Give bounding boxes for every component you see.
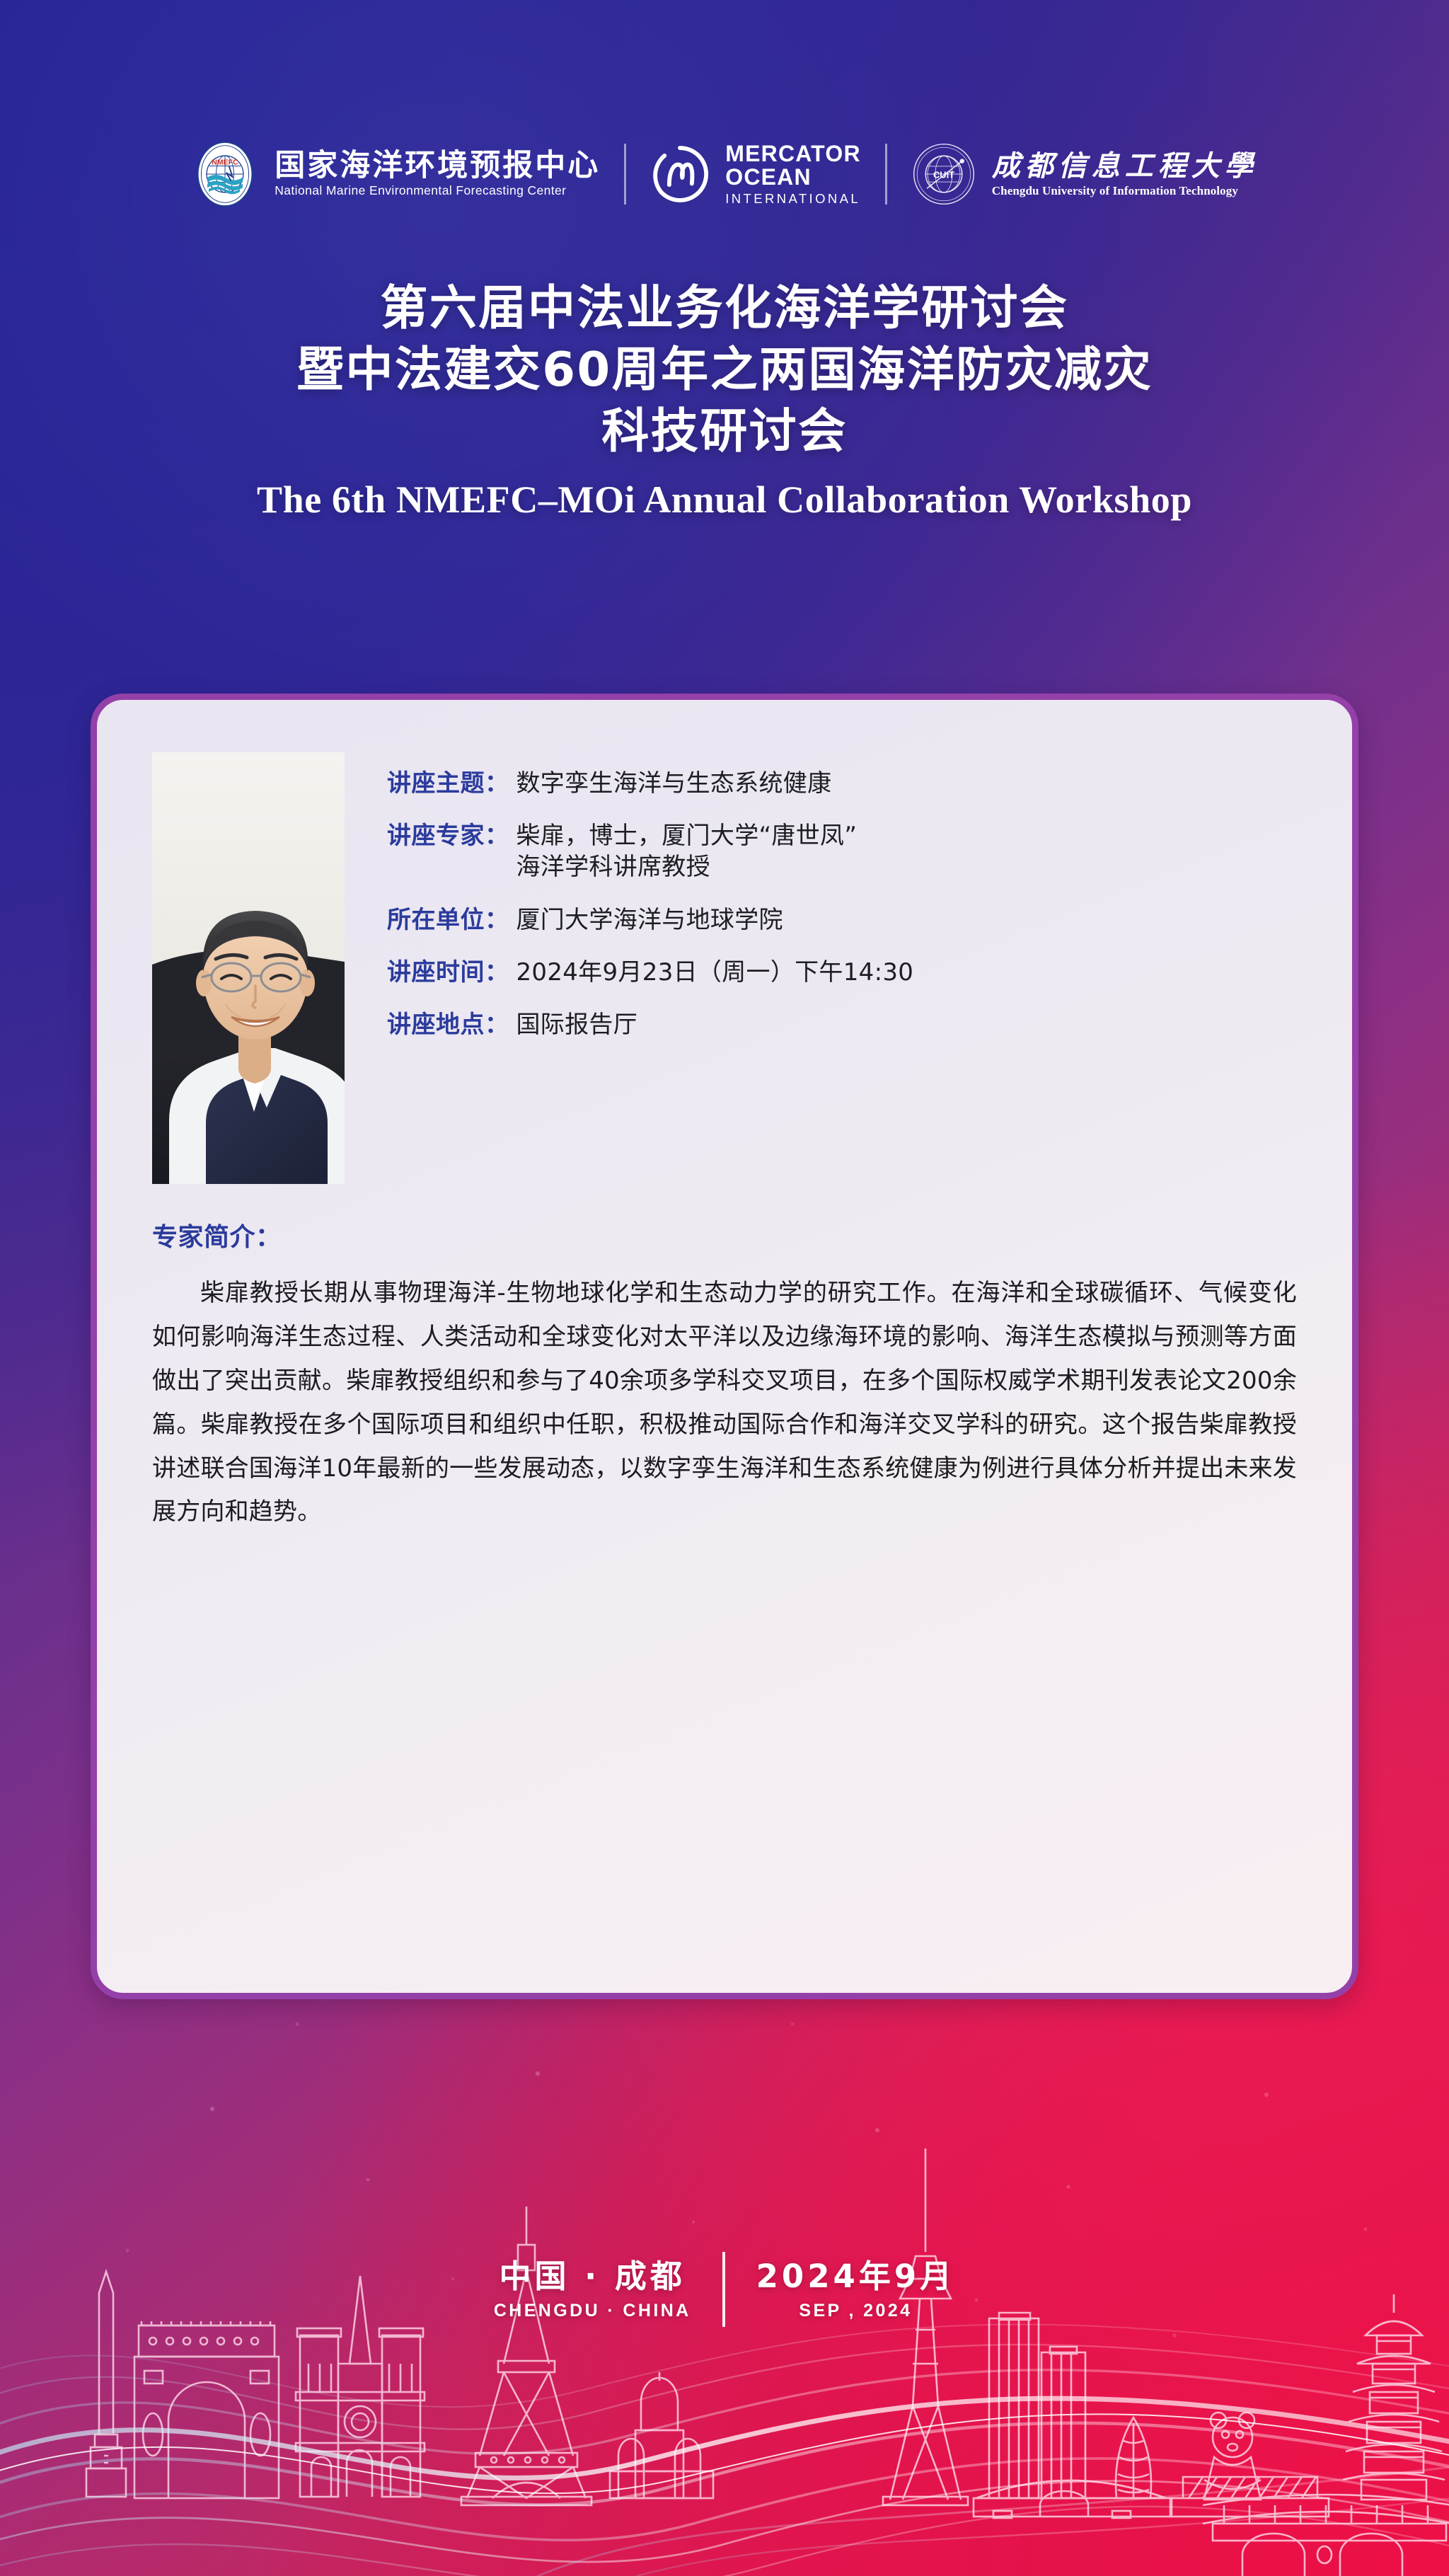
footer-date-en: SEP , 2024: [756, 2301, 956, 2321]
info-row-datetime: 讲座时间： 2024年9月23日（周一）下午14:30: [387, 957, 1297, 988]
mercator-m-circle-icon: [650, 144, 710, 204]
title-cn-line-2: 暨中法建交60周年之两国海洋防灾减灾: [0, 339, 1449, 401]
lecture-info-card: 讲座主题： 数字孪生海洋与生态系统健康 讲座专家： 柴扉，博士，厦门大学“唐世凤…: [91, 694, 1358, 1999]
info-value-datetime-line1: 2024年9月23日（周一）下午14:30: [516, 958, 914, 987]
poster-titles: 第六届中法业务化海洋学研讨会 暨中法建交60周年之两国海洋防灾减灾 科技研讨会 …: [0, 277, 1449, 522]
mercator-line1: MERCATOR: [725, 142, 861, 166]
logo-cuit: CUIT 成都信息工程大學 Chengdu University of Info…: [887, 142, 1282, 207]
footer-date-cn: 2024年9月: [756, 2258, 956, 2296]
info-row-topic: 讲座主题： 数字孪生海洋与生态系统健康: [387, 768, 1297, 799]
title-english: The 6th NMEFC–MOi Annual Collaboration W…: [0, 478, 1449, 522]
footer-location-date: 中国 · 成都 CHENGDU · CHINA 2024年9月 SEP , 20…: [0, 2252, 1449, 2327]
footer-location-en: CHENGDU · CHINA: [494, 2301, 691, 2321]
svg-text:CUIT: CUIT: [933, 170, 954, 180]
info-label-topic: 讲座主题：: [387, 768, 509, 799]
info-value-speaker: 柴扉，博士，厦门大学“唐世凤” 海洋学科讲席教授: [516, 820, 858, 882]
lecture-info-list: 讲座主题： 数字孪生海洋与生态系统健康 讲座专家： 柴扉，博士，厦门大学“唐世凤…: [387, 752, 1297, 1040]
footer-date: 2024年9月 SEP , 2024: [756, 2258, 956, 2322]
footer-location-cn: 中国 · 成都: [494, 2258, 691, 2296]
logo-nmefc: NMEFC 国家海洋环境预报中心 National Marine Environ…: [167, 140, 624, 208]
footer-location: 中国 · 成都 CHENGDU · CHINA: [494, 2258, 691, 2322]
info-value-speaker-line2: 海洋学科讲席教授: [516, 851, 858, 882]
svg-text:NMEFC: NMEFC: [212, 159, 238, 167]
cuit-name-cn: 成都信息工程大學: [992, 152, 1258, 180]
mercator-line2: OCEAN: [725, 166, 861, 189]
info-value-venue: 国际报告厅: [516, 1009, 638, 1040]
nmefc-name-en: National Marine Environmental Forecastin…: [275, 185, 600, 197]
bio-heading: 专家简介：: [152, 1217, 1297, 1253]
info-value-speaker-line1: 柴扉，博士，厦门大学“唐世凤”: [516, 822, 858, 850]
info-value-topic-line1: 数字孪生海洋与生态系统健康: [516, 769, 832, 798]
title-chinese: 第六届中法业务化海洋学研讨会 暨中法建交60周年之两国海洋防灾减灾 科技研讨会: [0, 277, 1449, 462]
info-label-affiliation: 所在单位：: [387, 904, 509, 936]
cuit-globe-seal-icon: CUIT: [911, 142, 976, 207]
info-row-speaker: 讲座专家： 柴扉，博士，厦门大学“唐世凤” 海洋学科讲席教授: [387, 820, 1297, 882]
title-cn-line-3: 科技研讨会: [0, 401, 1449, 462]
card-top-section: 讲座主题： 数字孪生海洋与生态系统健康 讲座专家： 柴扉，博士，厦门大学“唐世凤…: [152, 752, 1297, 1184]
bio-paragraph: 柴扉教授长期从事物理海洋-生物地球化学和生态动力学的研究工作。在海洋和全球碳循环…: [152, 1272, 1297, 1534]
cuit-name-en: Chengdu University of Information Techno…: [992, 185, 1258, 197]
info-label-venue: 讲座地点：: [387, 1009, 509, 1040]
title-cn-line-1: 第六届中法业务化海洋学研讨会: [0, 277, 1449, 339]
info-value-affiliation: 厦门大学海洋与地球学院: [516, 904, 783, 936]
info-value-datetime: 2024年9月23日（周一）下午14:30: [516, 957, 914, 988]
nmefc-globe-wave-seal-icon: NMEFC: [191, 140, 259, 208]
info-row-venue: 讲座地点： 国际报告厅: [387, 1009, 1297, 1040]
footer-divider: [722, 2252, 725, 2327]
info-row-affiliation: 所在单位： 厦门大学海洋与地球学院: [387, 904, 1297, 936]
speaker-biography: 专家简介： 柴扉教授长期从事物理海洋-生物地球化学和生态动力学的研究工作。在海洋…: [152, 1217, 1297, 1534]
info-label-speaker: 讲座专家：: [387, 820, 509, 851]
mercator-line3: INTERNATIONAL: [725, 192, 861, 206]
sponsor-logo-bar: NMEFC 国家海洋环境预报中心 National Marine Environ…: [0, 125, 1449, 224]
nmefc-name-cn: 国家海洋环境预报中心: [275, 151, 600, 181]
info-value-affiliation-line1: 厦门大学海洋与地球学院: [516, 906, 783, 934]
info-value-topic: 数字孪生海洋与生态系统健康: [516, 768, 832, 799]
info-value-venue-line1: 国际报告厅: [516, 1011, 638, 1039]
speaker-portrait-photo: [152, 752, 345, 1184]
logo-mercator-ocean: MERCATOR OCEAN INTERNATIONAL: [626, 142, 885, 205]
info-label-datetime: 讲座时间：: [387, 957, 509, 988]
